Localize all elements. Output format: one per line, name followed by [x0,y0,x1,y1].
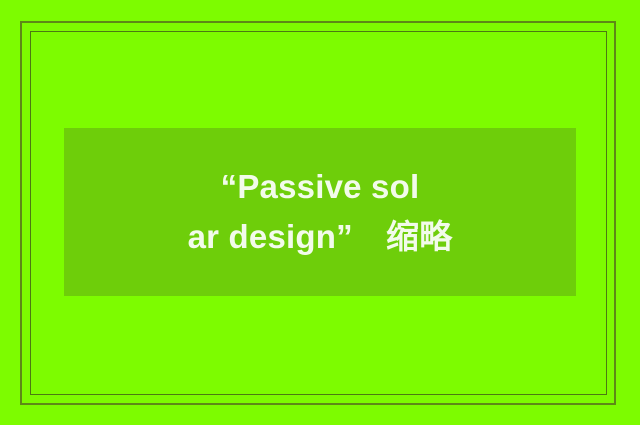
title-content-block: “Passive sol ar design” 缩略 [64,128,576,296]
title-line-1: “Passive sol [221,162,420,212]
slide-canvas: “Passive sol ar design” 缩略 [0,0,640,425]
title-line-2: ar design” 缩略 [188,212,453,262]
